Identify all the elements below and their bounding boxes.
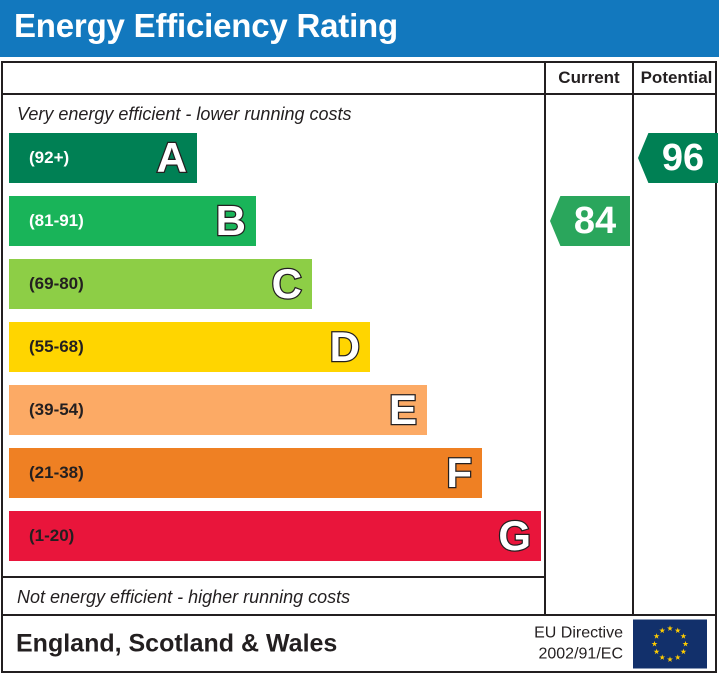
caption-inefficient: Not energy efficient - higher running co…	[3, 576, 544, 616]
band-letter-c: C	[272, 263, 302, 305]
eu-star	[680, 648, 686, 654]
band-range-b: (81-91)	[9, 211, 84, 231]
band-range-c: (69-80)	[9, 274, 84, 294]
eu-star	[654, 633, 660, 639]
table-header-row: Current Potential	[3, 63, 715, 95]
footer-directive: EU Directive 2002/91/EC	[534, 622, 623, 665]
band-row-f: (21-38)F	[9, 448, 482, 498]
footer-region-label: England, Scotland & Wales	[16, 629, 337, 658]
band-letter-f: F	[446, 452, 472, 494]
band-range-g: (1-20)	[9, 526, 74, 546]
rating-marker-current: 84	[550, 196, 630, 246]
band-range-e: (39-54)	[9, 400, 84, 420]
band-letter-e: E	[389, 389, 417, 431]
rating-table: Current Potential Very energy efficient …	[1, 61, 717, 616]
eu-star	[659, 654, 665, 660]
band-row-d: (55-68)D	[9, 322, 370, 372]
rating-marker-potential: 96	[638, 133, 718, 183]
directive-line-2: 2002/91/EC	[534, 644, 623, 666]
eu-star	[659, 627, 665, 633]
band-letter-a: A	[157, 137, 187, 179]
directive-line-1: EU Directive	[534, 622, 623, 644]
eu-star	[652, 640, 658, 646]
band-range-d: (55-68)	[9, 337, 84, 357]
column-divider-potential	[632, 63, 634, 614]
page-title: Energy Efficiency Rating	[14, 7, 398, 45]
rating-value-current: 84	[564, 202, 616, 240]
band-letter-g: G	[498, 515, 531, 557]
band-letter-b: B	[216, 200, 246, 242]
eu-star	[675, 654, 681, 660]
eu-star	[667, 656, 673, 662]
eu-star	[654, 648, 660, 654]
band-row-a: (92+)A	[9, 133, 197, 183]
band-row-b: (81-91)B	[9, 196, 256, 246]
eu-star	[667, 625, 673, 631]
band-letter-d: D	[330, 326, 360, 368]
eu-flag-stars	[633, 619, 707, 668]
energy-efficiency-rating-chart: Energy Efficiency Rating Current Potenti…	[0, 0, 719, 675]
band-list: (92+)A(81-91)B(69-80)C(55-68)D(39-54)E(2…	[3, 133, 544, 576]
band-row-g: (1-20)G	[9, 511, 541, 561]
eu-star	[683, 640, 689, 646]
column-header-potential: Potential	[634, 63, 719, 93]
band-row-c: (69-80)C	[9, 259, 312, 309]
eu-star	[675, 627, 681, 633]
caption-efficient: Very energy efficient - lower running co…	[3, 95, 544, 133]
column-header-current: Current	[546, 63, 632, 93]
band-range-f: (21-38)	[9, 463, 84, 483]
caption-efficient-text: Very energy efficient - lower running co…	[3, 104, 352, 125]
caption-inefficient-text: Not energy efficient - higher running co…	[3, 587, 350, 608]
band-range-a: (92+)	[9, 148, 69, 168]
column-divider-current	[544, 63, 546, 614]
eu-flag-icon	[633, 619, 707, 668]
eu-star	[680, 633, 686, 639]
title-bar: Energy Efficiency Rating	[0, 0, 719, 57]
band-row-e: (39-54)E	[9, 385, 427, 435]
rating-value-potential: 96	[652, 139, 704, 177]
footer-bar: England, Scotland & Wales EU Directive 2…	[1, 616, 717, 673]
